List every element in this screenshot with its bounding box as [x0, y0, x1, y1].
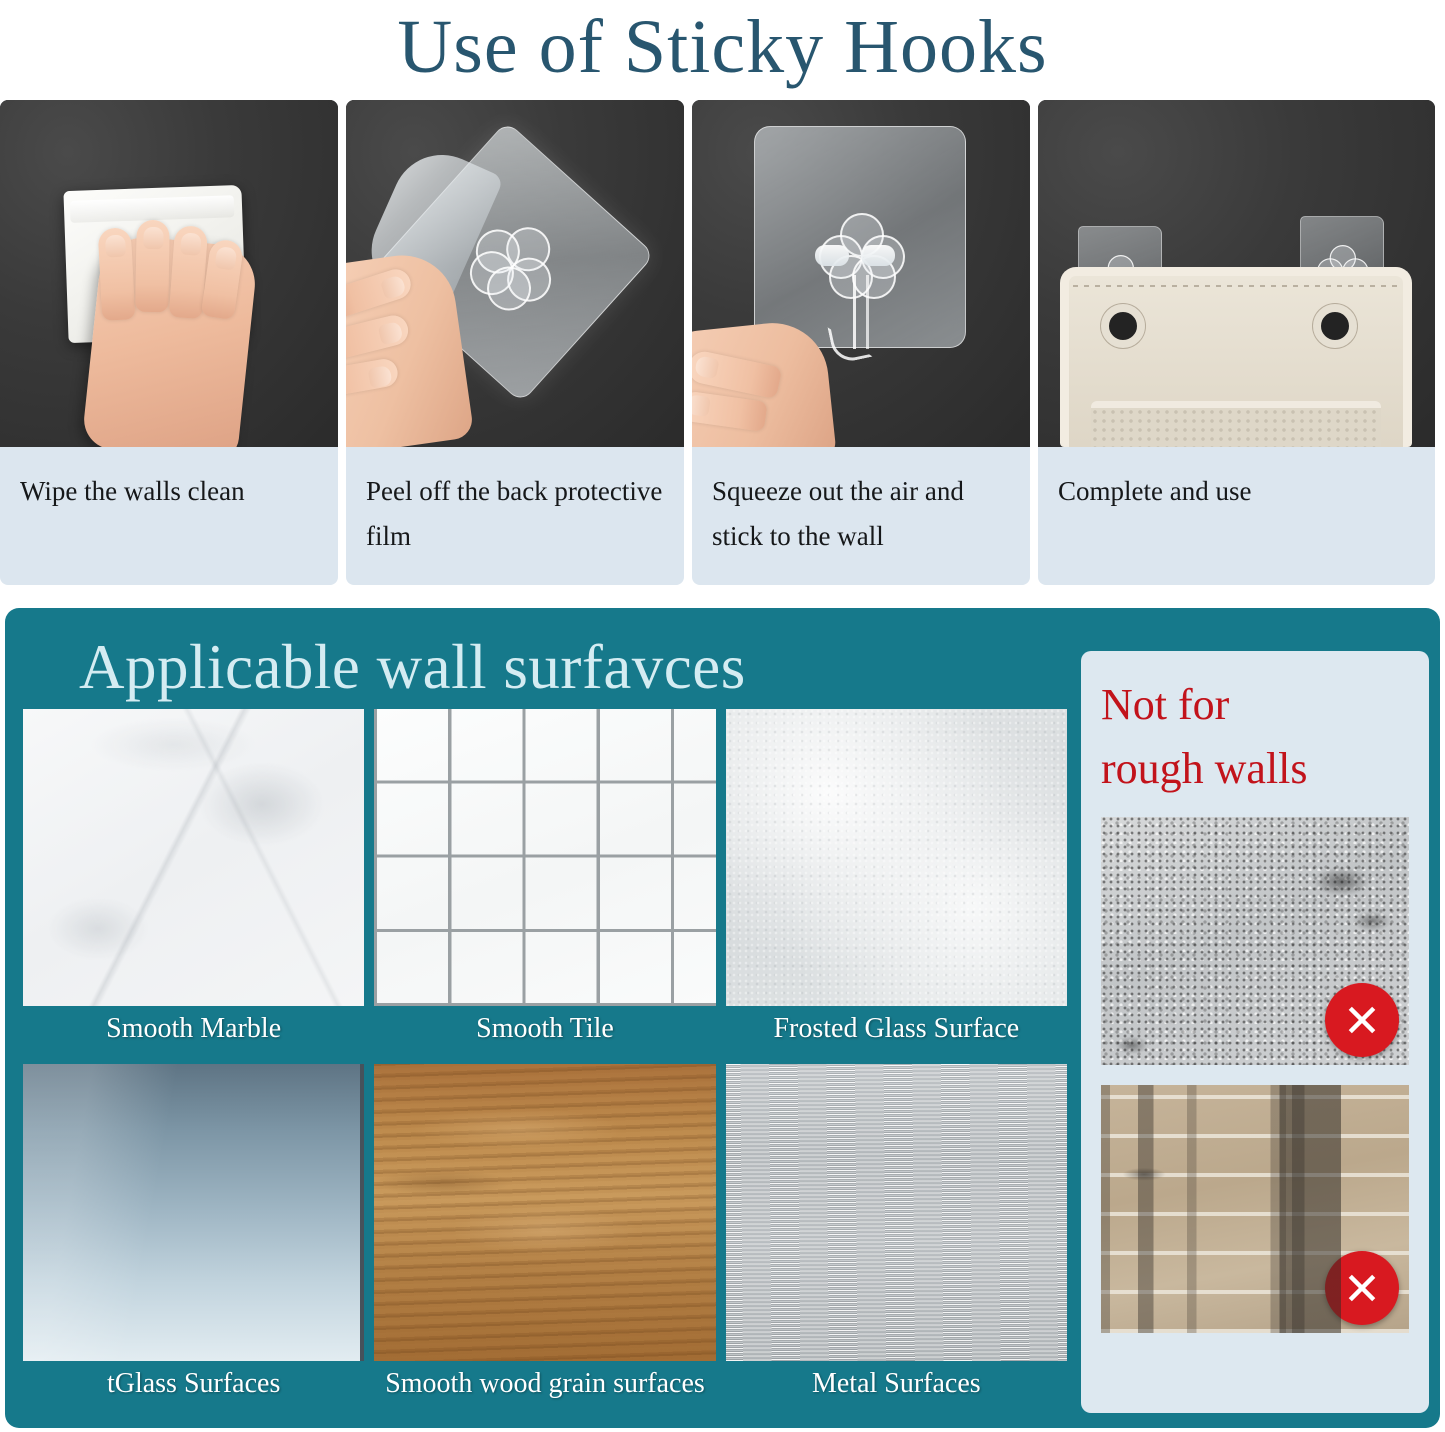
glass-swatch [23, 1064, 364, 1361]
step-photo-press-hook [692, 100, 1030, 447]
not-for-rough-walls-panel: Not for rough walls [1081, 651, 1429, 1413]
wood-grain-swatch [374, 1064, 715, 1361]
fabric-organizer [1060, 267, 1412, 447]
not-for-line-2: rough walls [1101, 737, 1409, 801]
not-for-title: Not for rough walls [1101, 673, 1409, 817]
transparent-hook-sheet [754, 126, 966, 348]
brick-wall-photo [1101, 1085, 1409, 1333]
steps-row: Wipe the walls clean Peel off the back p… [0, 100, 1445, 585]
rough-concrete-photo [1101, 817, 1409, 1065]
red-x-icon [1325, 1251, 1399, 1325]
marble-swatch [23, 709, 364, 1006]
surface-label: Smooth wood grain surfaces [374, 1361, 715, 1406]
hook-nub [861, 245, 895, 266]
frosted-glass-swatch [726, 709, 1067, 1006]
surface-label: tGlass Surfaces [23, 1361, 364, 1406]
step-photo-wipe-wall [0, 100, 338, 447]
step-card-3: Squeeze out the air and stick to the wal… [692, 100, 1030, 585]
title-bar: Use of Sticky Hooks [0, 0, 1445, 100]
surface-item-marble[interactable]: Smooth Marble [23, 709, 364, 1058]
finger [135, 220, 170, 313]
surface-label: Smooth Marble [23, 1006, 364, 1051]
metal-swatch [726, 1064, 1067, 1361]
surfaces-area: Smooth Marble Smooth Tile Frosted Glass … [5, 709, 1440, 1413]
grommet [1313, 304, 1357, 348]
stitch-line [1073, 285, 1399, 287]
step-caption-1: Wipe the walls clean [0, 447, 338, 585]
applicable-surfaces-panel: Applicable wall surfavces Smooth Marble … [5, 608, 1440, 1428]
step-card-1: Wipe the walls clean [0, 100, 338, 585]
surface-item-glass[interactable]: tGlass Surfaces [23, 1064, 364, 1413]
hook-nub [815, 245, 849, 266]
surface-label: Metal Surfaces [726, 1361, 1067, 1406]
step-caption-3: Squeeze out the air and stick to the wal… [692, 447, 1030, 585]
step-caption-4: Complete and use [1038, 447, 1435, 585]
not-for-line-1: Not for [1101, 673, 1409, 737]
tile-swatch [374, 709, 715, 1006]
mesh-pocket [1091, 401, 1381, 447]
surface-item-wood[interactable]: Smooth wood grain surfaces [374, 1064, 715, 1413]
surface-label: Frosted Glass Surface [726, 1006, 1067, 1051]
step-card-4: Complete and use [1038, 100, 1435, 585]
finger [98, 227, 136, 321]
step-card-2: Peel off the back protective film [346, 100, 684, 585]
step-caption-2: Peel off the back protective film [346, 447, 684, 585]
surface-item-metal[interactable]: Metal Surfaces [726, 1064, 1067, 1413]
surfaces-grid: Smooth Marble Smooth Tile Frosted Glass … [23, 709, 1067, 1413]
page-title: Use of Sticky Hooks [397, 9, 1047, 91]
red-x-icon [1325, 983, 1399, 1057]
surface-label: Smooth Tile [374, 1006, 715, 1051]
grommet [1101, 304, 1145, 348]
surface-item-frosted-glass[interactable]: Frosted Glass Surface [726, 709, 1067, 1058]
step-photo-peel-film [346, 100, 684, 447]
step-photo-complete [1038, 100, 1435, 447]
surface-item-tile[interactable]: Smooth Tile [374, 709, 715, 1058]
